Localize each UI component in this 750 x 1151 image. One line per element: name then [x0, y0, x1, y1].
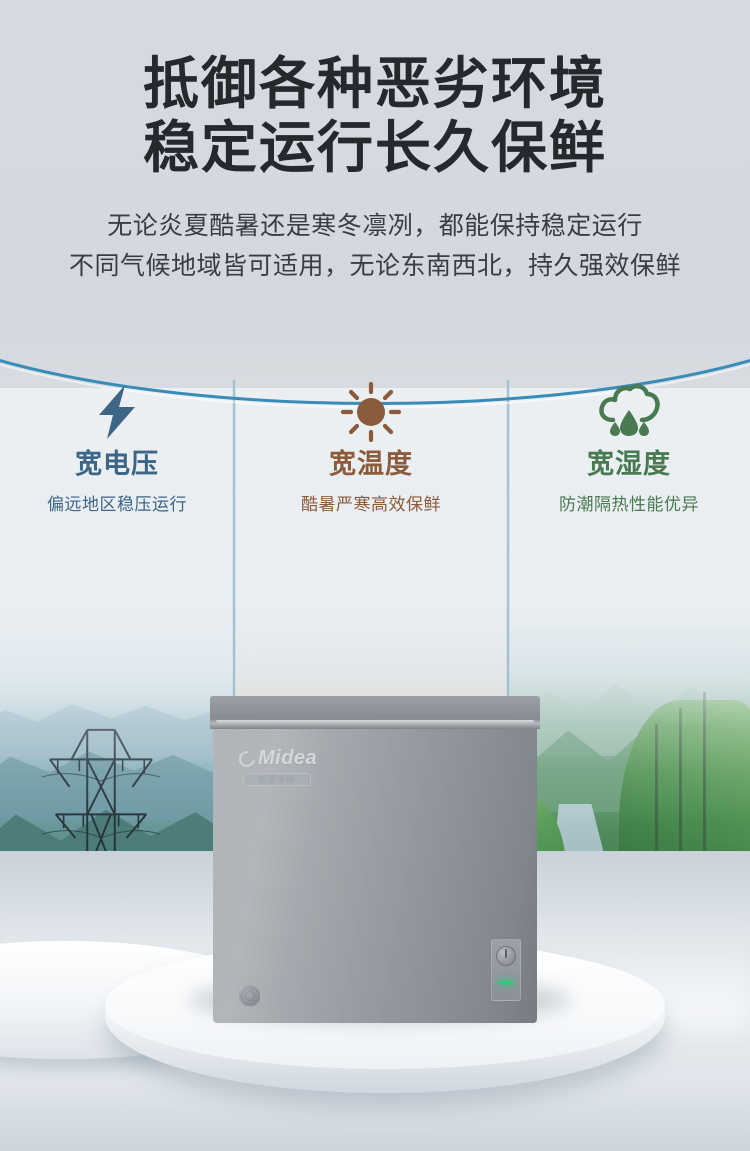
feature-desc: 防潮隔热性能优异 — [508, 490, 750, 515]
subheadline-line-2: 不同气候地域皆可适用，无论东南西北，持久强效保鲜 — [0, 246, 750, 286]
headline-line-2: 稳定运行长久保鲜 — [0, 116, 750, 180]
rain-cloud-icon — [508, 350, 750, 436]
feature-title: 宽湿度 — [508, 442, 750, 481]
brand-logo: Midea — [239, 747, 317, 770]
thermostat-knob[interactable] — [496, 946, 516, 966]
header-section: 抵御各种恶劣环境 稳定运行长久保鲜 无论炎夏酷暑还是寒冬凛冽，都能保持稳定运行 … — [0, 0, 750, 350]
product-badge-label: 抗菌净味 — [259, 774, 295, 785]
product-badge: 抗菌净味 — [243, 773, 311, 786]
feature-item-wide-temperature: 宽温度 酷暑严寒高效保鲜 — [234, 350, 508, 515]
power-led-indicator — [499, 981, 513, 984]
freezer-lid-groove — [216, 720, 534, 723]
podium-group: Midea 抗菌净味 — [0, 851, 750, 1151]
midea-mark-icon — [236, 747, 258, 769]
feature-item-wide-humidity: 宽湿度 防潮隔热性能优异 — [508, 350, 750, 515]
feature-item-wide-voltage: 宽电压 偏远地区稳压运行 — [0, 350, 234, 515]
lightning-bolt-icon — [0, 350, 234, 436]
drain-cap[interactable] — [239, 985, 261, 1007]
feature-list: 宽电压 偏远地区稳压运行 — [0, 350, 750, 610]
headline-block: 抵御各种恶劣环境 稳定运行长久保鲜 — [0, 0, 750, 180]
chest-freezer-product: Midea 抗菌净味 — [210, 696, 540, 1023]
control-panel[interactable] — [491, 939, 521, 1001]
freezer-body: Midea 抗菌净味 — [213, 729, 537, 1023]
product-marketing-page: 抵御各种恶劣环境 稳定运行长久保鲜 无论炎夏酷暑还是寒冬凛冽，都能保持稳定运行 … — [0, 0, 750, 1151]
sun-icon — [234, 350, 508, 436]
headline-line-1: 抵御各种恶劣环境 — [0, 52, 750, 116]
feature-title: 宽电压 — [0, 442, 234, 481]
freezer-lid — [210, 696, 540, 729]
subheadline-block: 无论炎夏酷暑还是寒冬凛冽，都能保持稳定运行 不同气候地域皆可适用，无论东南西北，… — [0, 206, 750, 286]
subheadline-line-1: 无论炎夏酷暑还是寒冬凛冽，都能保持稳定运行 — [0, 206, 750, 246]
feature-title: 宽温度 — [234, 442, 508, 481]
brand-name: Midea — [258, 747, 317, 770]
feature-desc: 酷暑严寒高效保鲜 — [234, 490, 508, 515]
feature-desc: 偏远地区稳压运行 — [0, 490, 234, 515]
